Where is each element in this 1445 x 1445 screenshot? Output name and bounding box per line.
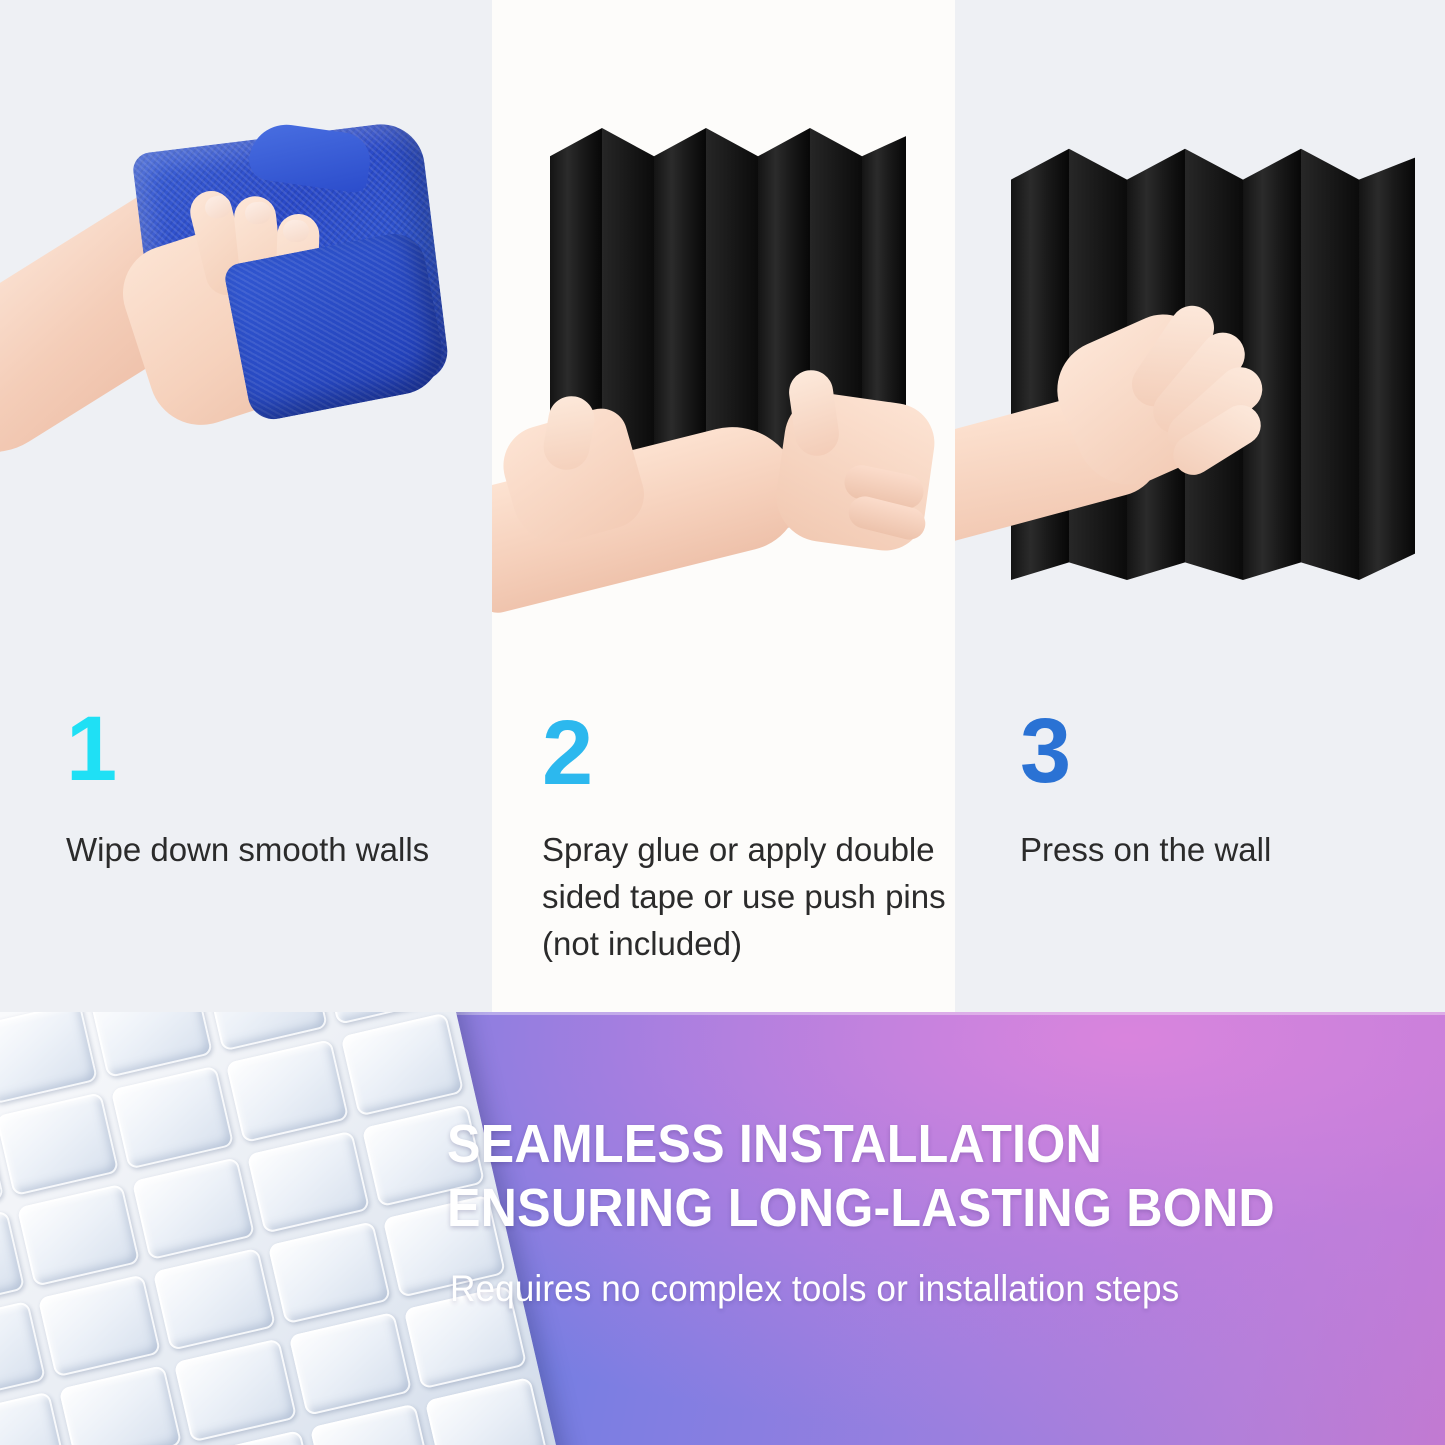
adhesive-pad xyxy=(247,1130,371,1234)
adhesive-pad xyxy=(226,1039,350,1143)
adhesive-pad xyxy=(195,1430,319,1445)
adhesive-pads-photo xyxy=(0,1012,470,1445)
adhesive-pad xyxy=(0,1092,119,1196)
adhesive-pad xyxy=(59,1365,183,1445)
step-panel-2: 2 Spray glue or apply double sided tape … xyxy=(492,0,955,1014)
installation-steps-section: 1 Wipe down smooth walls xyxy=(0,0,1445,1014)
adhesive-pad xyxy=(17,1183,141,1287)
press-foam-illustration xyxy=(955,0,1445,700)
banner-subheadline: Requires no complex tools or installatio… xyxy=(450,1268,1391,1310)
adhesive-pad xyxy=(0,1210,25,1314)
step-text-2: Spray glue or apply double sided tape or… xyxy=(542,827,955,968)
adhesive-pad xyxy=(153,1248,277,1352)
adhesive-pad xyxy=(111,1066,235,1170)
adhesive-pad xyxy=(0,1119,4,1223)
adhesive-pad xyxy=(268,1221,392,1325)
fingernail-shape xyxy=(283,220,310,243)
step-number-3: 3 xyxy=(1020,709,1069,794)
banner-headline-line-1: SEAMLESS INSTALLATION xyxy=(447,1113,1358,1177)
banner-top-divider xyxy=(0,1012,1445,1015)
adhesive-pad xyxy=(132,1157,256,1261)
adhesive-pad xyxy=(425,1376,549,1445)
step-panel-1: 1 Wipe down smooth walls xyxy=(0,0,492,1014)
banner-headline-line-2: ENSURING LONG-LASTING BOND xyxy=(447,1177,1358,1241)
adhesive-pad xyxy=(205,1012,329,1052)
step-text-3: Press on the wall xyxy=(1020,827,1420,874)
step-number-1: 1 xyxy=(66,707,115,792)
hold-foam-illustration xyxy=(492,0,955,700)
adhesive-pad xyxy=(289,1312,413,1416)
adhesive-pad xyxy=(310,1403,434,1445)
adhesive-pad xyxy=(174,1339,298,1443)
adhesive-pad xyxy=(0,1392,67,1445)
step-text-1: Wipe down smooth walls xyxy=(66,827,446,874)
adhesive-pad xyxy=(38,1274,162,1378)
adhesive-pad xyxy=(0,1301,46,1405)
step-panel-3: 3 Press on the wall xyxy=(955,0,1445,1014)
adhesive-pad xyxy=(341,1013,465,1117)
adhesive-pad xyxy=(90,1012,214,1078)
wipe-wall-illustration xyxy=(0,0,492,700)
product-infographic: 1 Wipe down smooth walls xyxy=(0,0,1445,1445)
banner-headline: SEAMLESS INSTALLATION ENSURING LONG-LAST… xyxy=(447,1113,1358,1240)
step-number-2: 2 xyxy=(542,711,591,796)
adhesive-pad xyxy=(0,1012,98,1105)
